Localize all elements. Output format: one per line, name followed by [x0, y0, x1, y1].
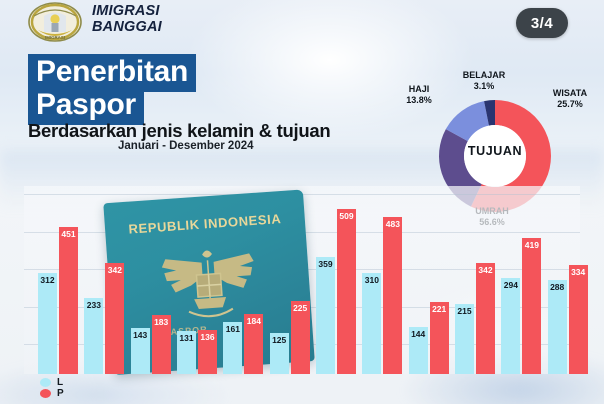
donut-label-value: 3.1% — [444, 81, 524, 92]
bar-value-label: 310 — [365, 275, 379, 285]
legend-item-l: L — [40, 377, 64, 388]
bar-sep-p: 221 — [430, 302, 449, 374]
bar-jan-l: 312 — [38, 273, 57, 374]
donut-label-belajar: BELAJAR3.1% — [444, 70, 524, 92]
bar-mar-l: 143 — [131, 328, 150, 374]
bar-value-label: 509 — [339, 211, 353, 221]
donut-label-wisata: WISATA25.7% — [536, 88, 604, 110]
chart-legend: L P — [40, 377, 64, 399]
bar-value-label: 342 — [108, 265, 122, 275]
bar-value-label: 483 — [386, 219, 400, 229]
bar-jul-l: 359 — [316, 257, 335, 374]
page-indicator-badge: 3/4 — [516, 8, 568, 38]
donut-label-value: 25.7% — [536, 99, 604, 110]
period-label: Januari - Desember 2024 — [118, 140, 254, 152]
bar-value-label: 143 — [133, 330, 147, 340]
bar-jun-l: 125 — [270, 333, 289, 374]
brand-line-1: IMIGRASI — [92, 4, 162, 20]
bar-jun-p: 225 — [291, 301, 310, 374]
imigrasi-emblem-icon: IMIGRASI — [24, 2, 86, 44]
legend-swatch-l — [40, 378, 51, 387]
bar-des-l: 288 — [548, 280, 567, 374]
bar-mei-p: 184 — [244, 314, 263, 374]
bar-value-label: 131 — [179, 333, 193, 343]
bar-value-label: 221 — [432, 304, 446, 314]
bar-nov-l: 294 — [501, 278, 520, 374]
bar-series-container: 3124512333421431831311361611841252253595… — [24, 186, 580, 374]
donut-center-label: TUJUAN — [386, 144, 604, 158]
bar-jan-p: 451 — [59, 227, 78, 374]
infographic-slide: IMIGRASI IMIGRASI BANGGAI 3/4 Penerbitan… — [0, 0, 604, 404]
svg-text:IMIGRASI: IMIGRASI — [45, 35, 65, 40]
legend-swatch-p — [40, 389, 51, 398]
bar-apr-p: 136 — [198, 330, 217, 374]
legend-label-p: P — [57, 388, 64, 399]
bar-value-label: 233 — [87, 300, 101, 310]
donut-label-name: BELAJAR — [444, 70, 524, 81]
bar-value-label: 125 — [272, 335, 286, 345]
brand-name: IMIGRASI BANGGAI — [92, 4, 162, 35]
bar-mar-p: 183 — [152, 315, 171, 374]
bar-feb-l: 233 — [84, 298, 103, 374]
bar-des-p: 334 — [569, 265, 588, 374]
legend-label-l: L — [57, 377, 63, 388]
bar-value-label: 161 — [226, 324, 240, 334]
bar-okt-l: 215 — [455, 304, 474, 374]
bar-ags-l: 310 — [362, 273, 381, 374]
bar-value-label: 183 — [154, 317, 168, 327]
bar-value-label: 294 — [504, 280, 518, 290]
bar-value-label: 184 — [247, 316, 261, 326]
bar-apr-l: 131 — [177, 331, 196, 374]
bar-value-label: 419 — [525, 240, 539, 250]
bar-value-label: 334 — [571, 267, 585, 277]
bar-value-label: 144 — [411, 329, 425, 339]
bar-okt-p: 342 — [476, 263, 495, 374]
brand-line-2: BANGGAI — [92, 20, 162, 36]
bar-value-label: 359 — [318, 259, 332, 269]
bar-value-label: 225 — [293, 303, 307, 313]
bar-sep-l: 144 — [409, 327, 428, 374]
bar-mei-l: 161 — [223, 322, 242, 374]
bar-feb-p: 342 — [105, 263, 124, 374]
legend-item-p: P — [40, 388, 64, 399]
bar-value-label: 136 — [200, 332, 214, 342]
donut-label-value: 13.8% — [388, 95, 450, 106]
donut-label-haji: HAJI13.8% — [388, 84, 450, 106]
bar-jul-p: 509 — [337, 209, 356, 374]
bar-nov-p: 419 — [522, 238, 541, 374]
donut-label-name: HAJI — [388, 84, 450, 95]
bar-ags-p: 483 — [383, 217, 402, 374]
bar-value-label: 342 — [478, 265, 492, 275]
bar-value-label: 215 — [457, 306, 471, 316]
donut-label-name: WISATA — [536, 88, 604, 99]
page-subtitle: Berdasarkan jenis kelamin & tujuan — [28, 120, 388, 141]
bar-value-label: 288 — [550, 282, 564, 292]
bar-value-label: 451 — [61, 229, 75, 239]
bar-value-label: 312 — [40, 275, 54, 285]
